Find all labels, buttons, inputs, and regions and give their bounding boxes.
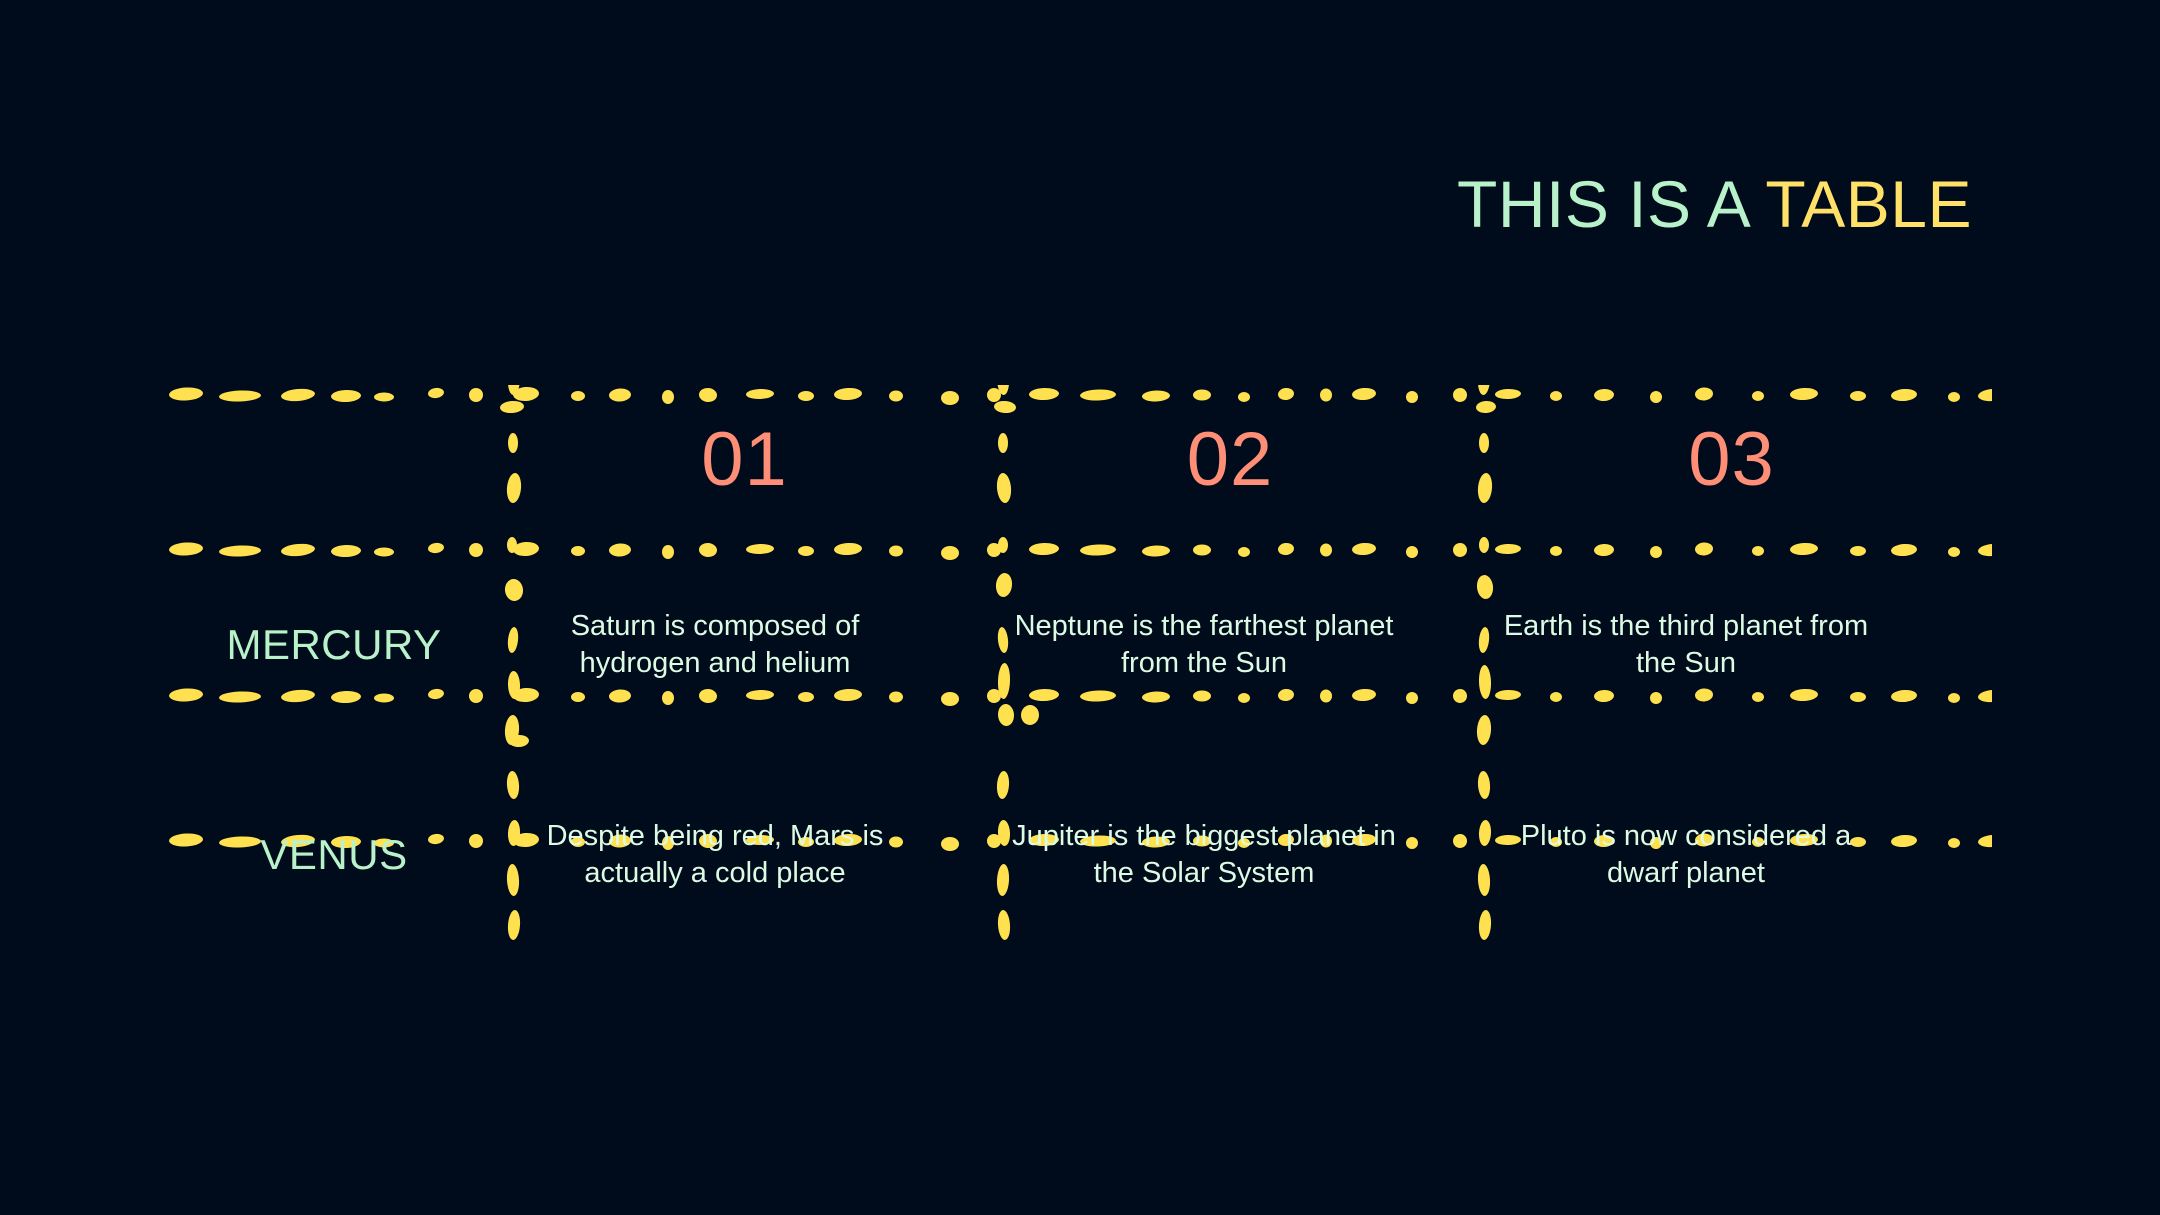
- column-header-03: 03: [1471, 385, 1992, 540]
- table-cell-venus-01: Despite being red, Mars is actually a co…: [500, 750, 930, 960]
- page-title-part-2: TABLE: [1765, 167, 1972, 241]
- table-cell-mercury-01: Saturn is composed of hydrogen and heliu…: [500, 540, 930, 750]
- table-cell-mercury-02: Neptune is the farthest planet from the …: [989, 540, 1419, 750]
- column-header-02: 02: [989, 385, 1471, 540]
- page-title: THIS IS A TABLE: [0, 105, 1972, 303]
- slide-canvas: THIS IS A TABLE: [0, 0, 2160, 1215]
- column-header-01: 01: [500, 385, 989, 540]
- table-cell-venus-02: Jupiter is the biggest planet in the Sol…: [989, 750, 1419, 960]
- page-title-part-1: THIS IS A: [1457, 167, 1765, 241]
- table-cells: 01 02 03 MERCURY Saturn is composed of h…: [168, 385, 1992, 1015]
- row-header-mercury: MERCURY: [168, 540, 500, 750]
- table: 01 02 03 MERCURY Saturn is composed of h…: [168, 385, 1992, 1015]
- table-cell-venus-03: Pluto is now considered a dwarf planet: [1471, 750, 1901, 960]
- table-cell-mercury-03: Earth is the third planet from the Sun: [1471, 540, 1901, 750]
- table-corner-cell: [168, 385, 500, 540]
- row-header-venus: VENUS: [168, 750, 500, 960]
